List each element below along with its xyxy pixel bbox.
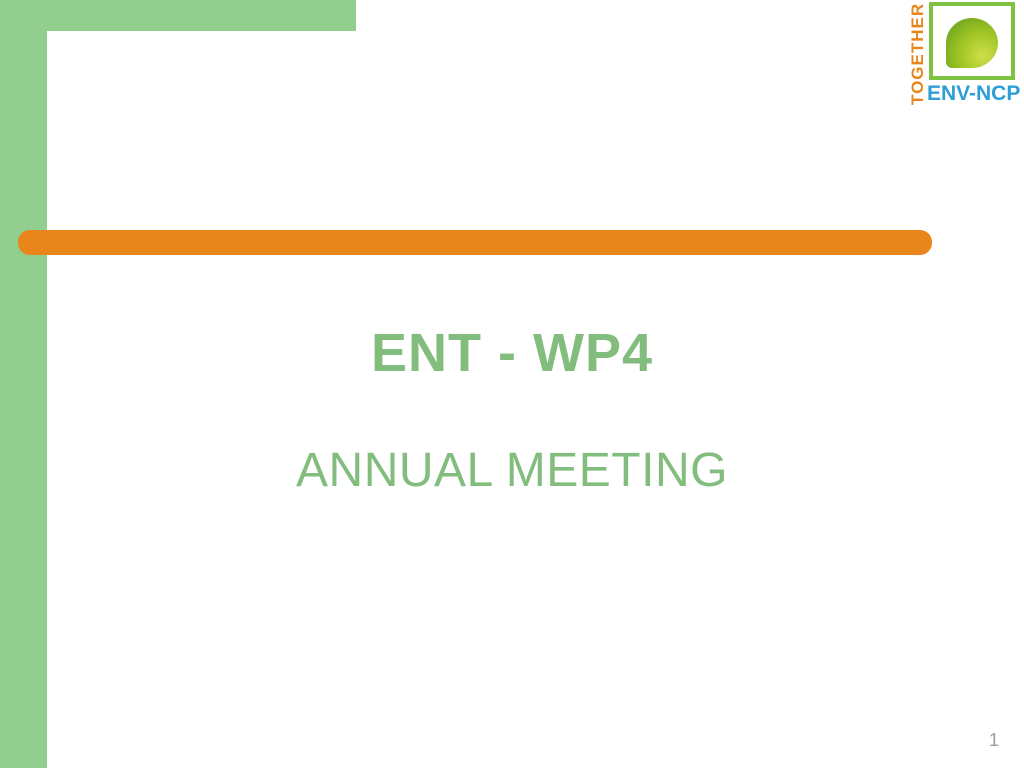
orange-divider-rule bbox=[18, 230, 932, 255]
slide: ENT - WP4 ANNUAL MEETING 1 TOGETHER ENV-… bbox=[0, 0, 1024, 768]
green-top-bar bbox=[0, 0, 356, 31]
logo-wordmark: ENV-NCP bbox=[927, 82, 1020, 106]
green-leaf-icon bbox=[946, 18, 998, 68]
green-left-bar bbox=[0, 0, 47, 768]
page-title: ENT - WP4 bbox=[0, 322, 1024, 384]
page-subtitle: ANNUAL MEETING bbox=[0, 443, 1024, 498]
white-content-panel bbox=[47, 31, 1024, 768]
logo-frame bbox=[929, 2, 1015, 80]
env-ncp-logo: TOGETHER ENV-NCP bbox=[905, 0, 1019, 112]
page-number: 1 bbox=[989, 730, 999, 751]
